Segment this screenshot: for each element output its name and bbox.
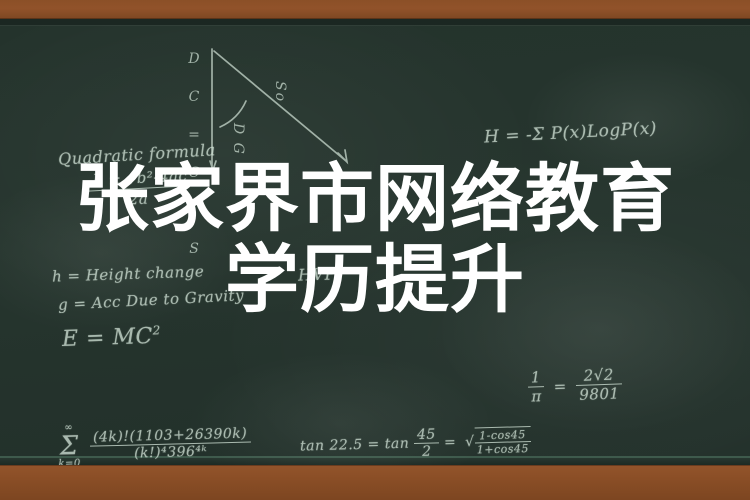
chalk-mass-energy-formula: E = MC2	[62, 323, 162, 352]
frame-top-wood	[0, 0, 750, 19]
headline-line-2: 学历提升	[225, 243, 525, 318]
summation-sigma-icon: Σ	[58, 433, 81, 460]
headline-block: 张家界市网络教育 学历提升	[0, 19, 750, 465]
tangent-fraction-numerator: 45	[414, 426, 439, 444]
radical-numerator: 1-cos45	[474, 428, 530, 443]
chalk-tangent-half-angle: tan 22.5 = tan 45 2 = √ 1-cos45 1+cos45	[300, 424, 532, 463]
pi-left-fraction: 1 π	[527, 368, 545, 406]
radical-denominator: 1+cos45	[475, 442, 531, 456]
tangent-radical: √ 1-cos45 1+cos45	[465, 426, 531, 457]
mass-energy-body: E = MC	[62, 324, 154, 352]
mass-energy-exponent: 2	[152, 323, 161, 337]
ramanujan-summation: ∞ Σ k=0	[57, 423, 81, 465]
radical-inner-fraction: 1-cos45 1+cos45	[474, 428, 531, 456]
tangent-lhs: tan 22.5 = tan	[300, 436, 410, 455]
chalk-ramanujan-series: ∞ Σ k=0 (4k)!(1103+26390k) (k!)⁴396⁴ᵏ	[57, 418, 251, 465]
pi-left-numerator: 1	[527, 368, 544, 388]
chalk-smudge	[430, 219, 750, 439]
pi-right-fraction: 2√2 9801	[575, 365, 622, 404]
chalk-gravity-note: g = Acc Due to Gravity	[58, 286, 245, 314]
summation-lower-limit: k=0	[58, 459, 81, 465]
frame-bottom-wood	[0, 465, 750, 500]
ramanujan-fraction: (4k)!(1103+26390k) (k!)⁴396⁴ᵏ	[90, 425, 251, 462]
radical-bar: 1-cos45 1+cos45	[474, 426, 531, 456]
sketch-label-mid: D G	[230, 123, 246, 156]
pi-left-denominator: π	[528, 387, 545, 406]
quadratic-denominator: 2a	[88, 186, 189, 210]
chalkboard-surface: D C = C - S So D G Quadratic formula -b …	[0, 19, 750, 465]
tangent-equals-sign: =	[444, 434, 457, 450]
pi-right-numerator: 2√2	[575, 365, 622, 386]
tangent-fraction-denominator: 2	[414, 443, 439, 460]
chalkboard-poster: D C = C - S So D G Quadratic formula -b …	[0, 0, 750, 500]
chalk-pi-identity: 1 π = 2√2 9801	[527, 365, 622, 405]
chalk-entropy-formula: H = -Σ P(x)LogP(x)	[484, 118, 658, 147]
pi-equals-sign: =	[549, 377, 571, 396]
chalk-height-change-note: h = Height change	[52, 262, 205, 285]
tangent-fraction: 45 2	[414, 426, 440, 460]
board-top-edge	[0, 19, 750, 25]
chalk-hvp-note: HVP	[298, 264, 336, 284]
pi-right-denominator: 9801	[576, 384, 623, 404]
chalk-quadratic-formula: -b ± √b²-4ac 2a	[87, 166, 189, 210]
sketch-label-right: So	[272, 81, 288, 103]
